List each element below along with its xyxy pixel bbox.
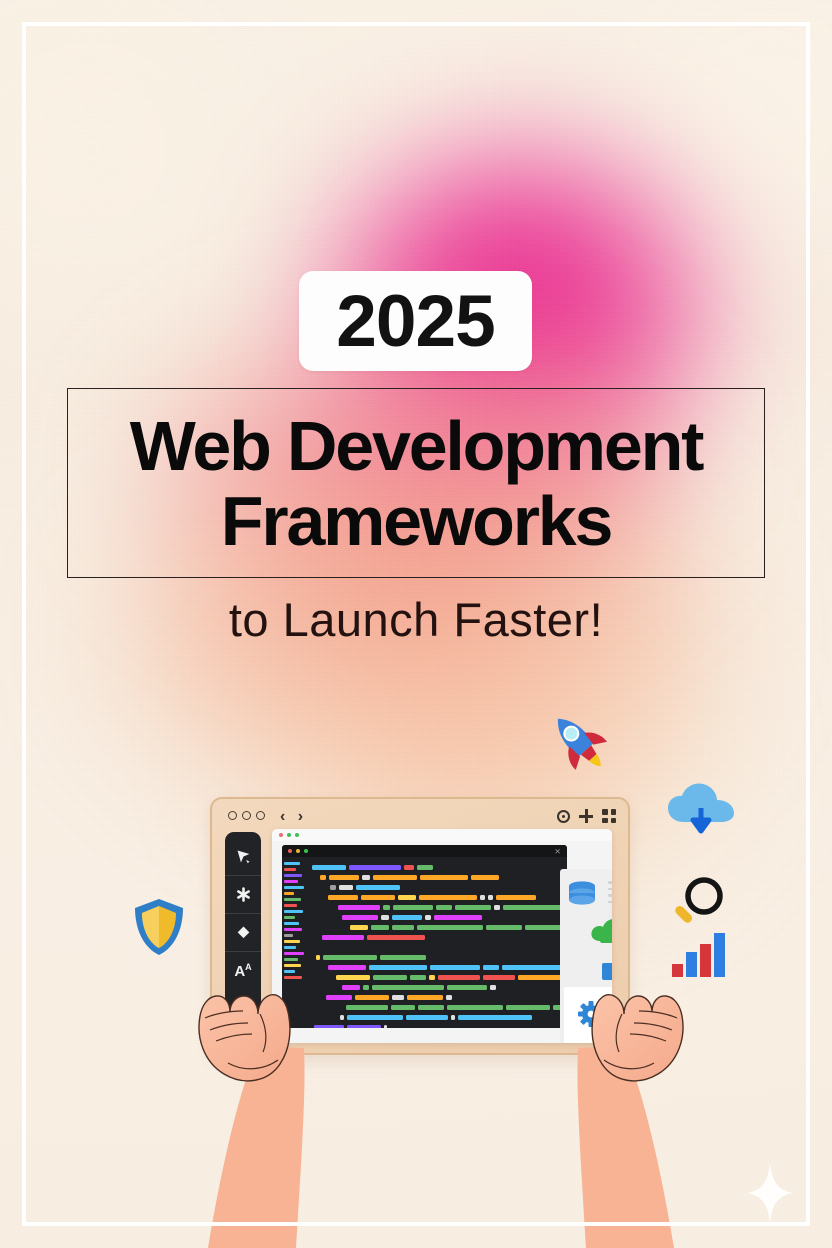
minimap-row xyxy=(284,970,295,973)
editor-code-line xyxy=(312,904,567,910)
minimap-row xyxy=(284,868,296,871)
editor-code-line xyxy=(312,1014,567,1020)
code-token xyxy=(490,985,496,990)
tablet-device: ‹ › xyxy=(210,797,630,1055)
browser-dot-green-2 xyxy=(295,833,299,837)
code-token xyxy=(342,985,360,990)
code-token xyxy=(404,865,414,870)
minimap-row xyxy=(284,916,295,919)
text-size-icon[interactable]: AA xyxy=(225,952,261,990)
rocket-icon xyxy=(540,703,616,779)
code-token xyxy=(363,985,369,990)
minimap-row xyxy=(284,904,297,907)
code-token xyxy=(425,915,431,920)
minimap-row xyxy=(284,958,298,961)
headline-line-1: Web Development xyxy=(130,412,703,481)
search-icon xyxy=(668,872,728,932)
editor-code-line xyxy=(312,914,567,920)
editor-minimap[interactable] xyxy=(282,857,306,1028)
code-token xyxy=(417,925,483,930)
grid-icon[interactable] xyxy=(602,809,616,823)
code-token xyxy=(369,965,427,970)
tablet-toolbar xyxy=(557,809,616,823)
editor-code-line xyxy=(312,954,567,960)
code-token xyxy=(455,905,491,910)
code-token xyxy=(347,1015,403,1020)
bar-chart-icon xyxy=(668,930,726,978)
right-finger-line-3 xyxy=(630,1034,666,1041)
code-token xyxy=(347,1025,381,1029)
code-token xyxy=(518,975,564,980)
minimap-row xyxy=(284,910,303,913)
left-palm-line xyxy=(228,1060,278,1069)
code-token xyxy=(430,965,480,970)
editor-code-line xyxy=(312,944,567,950)
text-size-superscript: A xyxy=(245,962,252,972)
minimap-row xyxy=(284,934,293,937)
code-token xyxy=(447,985,487,990)
gear-blue-icon xyxy=(578,1001,604,1027)
grid-dot-2 xyxy=(611,809,617,815)
code-token xyxy=(391,1005,415,1010)
code-token xyxy=(361,895,395,900)
code-token xyxy=(328,895,358,900)
editor-dot-yellow xyxy=(296,849,300,853)
right-arm xyxy=(577,1046,674,1248)
cloud-icon xyxy=(591,919,612,943)
code-token xyxy=(349,865,401,870)
poster-canvas: 2025 Web Development Frameworks to Launc… xyxy=(0,0,832,1248)
code-token xyxy=(483,965,499,970)
code-token xyxy=(346,1005,388,1010)
code-token xyxy=(438,975,480,980)
code-token xyxy=(314,1025,344,1029)
headline-box: Web Development Frameworks xyxy=(67,388,765,578)
code-token xyxy=(393,905,433,910)
subtitle: to Launch Faster! xyxy=(0,592,832,647)
sparkle-icon xyxy=(747,1163,793,1223)
code-token xyxy=(406,1015,448,1020)
code-token xyxy=(340,1015,344,1020)
code-token xyxy=(429,975,435,980)
minimap-row xyxy=(284,898,301,901)
minimap-row xyxy=(284,928,302,931)
minimap-row xyxy=(284,946,296,949)
code-token xyxy=(330,885,336,890)
code-token xyxy=(326,995,352,1000)
code-token xyxy=(373,975,407,980)
code-token xyxy=(342,915,378,920)
year-badge-label: 2025 xyxy=(336,285,494,358)
code-token xyxy=(418,1005,444,1010)
cloud-download-icon xyxy=(665,778,737,840)
editor-code-line xyxy=(312,964,567,970)
code-token xyxy=(380,955,426,960)
window-dot-3 xyxy=(256,811,265,820)
editor-code-line xyxy=(312,984,567,990)
code-token xyxy=(355,995,389,1000)
database-icon xyxy=(569,881,595,904)
diagram-text-lines xyxy=(608,881,612,903)
editor-code-line xyxy=(312,994,567,1000)
year-badge: 2025 xyxy=(299,271,532,371)
grid-dot-1 xyxy=(602,809,608,815)
tablet-nav-chevrons[interactable]: ‹ › xyxy=(280,808,307,826)
minimap-row xyxy=(284,880,298,883)
code-token xyxy=(494,905,500,910)
code-token xyxy=(329,875,359,880)
editor-code-line xyxy=(312,864,567,870)
code-token xyxy=(350,925,368,930)
code-token xyxy=(362,875,370,880)
tablet-window-dots xyxy=(228,811,265,820)
editor-code-line xyxy=(312,894,567,900)
window-dot-1 xyxy=(228,811,237,820)
code-token xyxy=(458,1015,532,1020)
asterisk-icon[interactable] xyxy=(225,876,261,914)
editor-dot-green xyxy=(304,849,308,853)
tablet-side-rail: AA xyxy=(225,832,261,1044)
headline-line-2: Frameworks xyxy=(221,487,611,556)
minimap-row xyxy=(284,922,299,925)
code-token xyxy=(483,975,515,980)
browser-window: ⨯ xyxy=(272,829,612,1043)
editor-code-block[interactable] xyxy=(306,857,567,1028)
editor-code-line xyxy=(312,1024,567,1028)
right-finger-line-1 xyxy=(639,1011,677,1018)
minimap-row xyxy=(284,874,302,877)
code-token xyxy=(446,995,452,1000)
code-token xyxy=(502,965,567,970)
code-token xyxy=(367,935,425,940)
server-box xyxy=(602,963,612,980)
diagram-line-1 xyxy=(608,881,612,884)
browser-dot-red xyxy=(279,833,283,837)
code-token xyxy=(417,865,433,870)
code-token xyxy=(322,935,364,940)
code-token xyxy=(488,895,493,900)
minimap-row xyxy=(284,862,300,865)
code-token xyxy=(419,895,477,900)
minimap-row xyxy=(284,940,300,943)
shield-icon xyxy=(130,896,188,958)
code-token xyxy=(407,995,443,1000)
code-token xyxy=(336,975,370,980)
code-token xyxy=(338,905,380,910)
code-token xyxy=(320,875,326,880)
cursor-icon[interactable] xyxy=(225,838,261,876)
editor-code-line xyxy=(312,884,567,890)
editor-code-line xyxy=(312,934,567,940)
right-finger-line-2 xyxy=(634,1023,672,1030)
code-token xyxy=(496,895,536,900)
code-editor: ⨯ xyxy=(282,845,567,1028)
code-token xyxy=(447,1005,503,1010)
grid-dot-3 xyxy=(602,818,608,824)
code-token xyxy=(371,925,389,930)
code-token xyxy=(392,925,414,930)
code-token xyxy=(323,955,377,960)
editor-titlebar: ⨯ xyxy=(282,845,567,857)
code-token xyxy=(420,875,468,880)
diagram-line-2 xyxy=(608,888,612,891)
code-token xyxy=(451,1015,455,1020)
code-token xyxy=(381,915,389,920)
browser-titlebar xyxy=(272,829,612,841)
browser-dot-green-1 xyxy=(287,833,291,837)
code-token xyxy=(471,875,499,880)
architecture-diagram xyxy=(560,869,612,1043)
diagram-line-4 xyxy=(608,901,612,904)
editor-code-line xyxy=(312,1004,567,1010)
editor-code-line xyxy=(312,874,567,880)
diamond-icon[interactable] xyxy=(225,914,261,952)
code-token xyxy=(392,915,422,920)
diagram-line-3 xyxy=(608,894,612,897)
code-token xyxy=(398,895,416,900)
code-token xyxy=(312,865,346,870)
code-token xyxy=(373,875,417,880)
gear-card xyxy=(564,987,612,1043)
code-token xyxy=(339,885,353,890)
code-token xyxy=(372,985,444,990)
minimap-row xyxy=(284,976,302,979)
right-palm-line xyxy=(604,1060,654,1069)
close-icon[interactable]: ⨯ xyxy=(554,847,561,856)
code-token xyxy=(328,965,366,970)
code-token xyxy=(392,995,404,1000)
code-token xyxy=(506,1005,550,1010)
code-token xyxy=(503,905,565,910)
code-token xyxy=(436,905,452,910)
minimap-row xyxy=(284,886,304,889)
code-token xyxy=(356,885,400,890)
editor-body xyxy=(282,857,567,1028)
code-token xyxy=(434,915,482,920)
code-token xyxy=(480,895,485,900)
code-token xyxy=(383,905,390,910)
minimap-row xyxy=(284,964,301,967)
editor-dot-red xyxy=(288,849,292,853)
left-arm xyxy=(208,1046,305,1248)
code-token xyxy=(486,925,522,930)
code-token xyxy=(316,955,320,960)
plus-icon[interactable] xyxy=(579,809,593,823)
record-icon[interactable] xyxy=(557,810,570,823)
code-token xyxy=(384,1025,387,1029)
code-token xyxy=(410,975,426,980)
editor-code-line xyxy=(312,924,567,930)
grid-dot-4 xyxy=(611,818,617,824)
editor-code-line xyxy=(312,974,567,980)
minimap-row xyxy=(284,952,304,955)
window-dot-2 xyxy=(242,811,251,820)
minimap-row xyxy=(284,892,294,895)
